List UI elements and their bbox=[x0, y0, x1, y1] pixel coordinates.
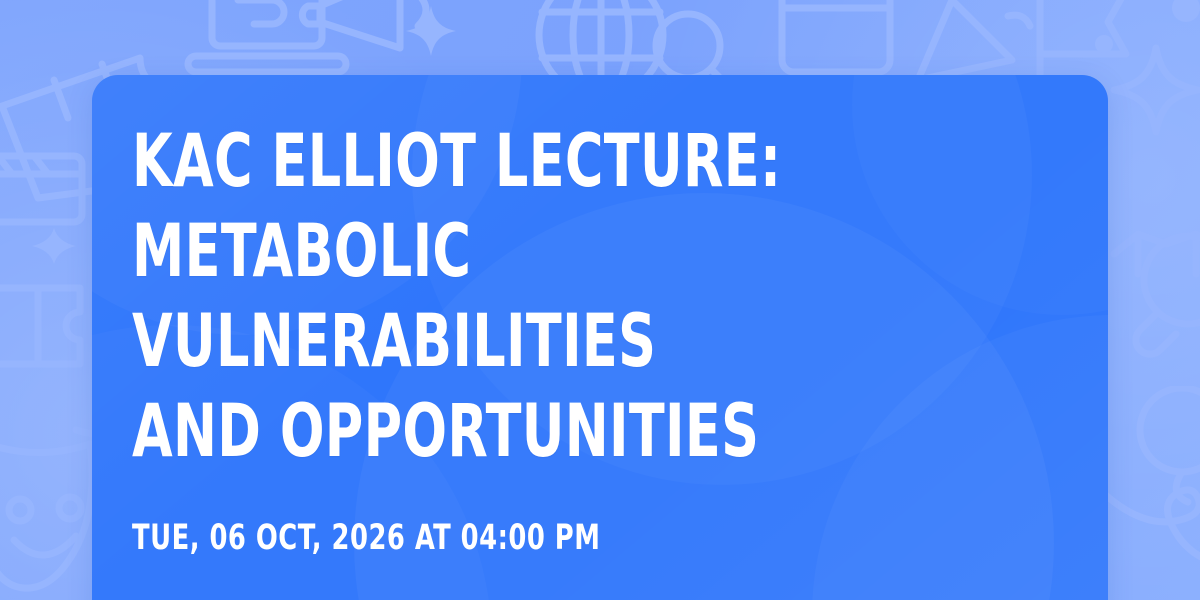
event-card: KAC Elliot Lecture: Metabolic Vulnerabil… bbox=[92, 75, 1108, 600]
event-datetime: Tue, 06 Oct, 2026 at 04:00 PM bbox=[132, 517, 900, 559]
star-icon bbox=[1146, 0, 1200, 54]
event-title: KAC Elliot Lecture: Metabolic Vulnerabil… bbox=[132, 117, 881, 477]
star-icon bbox=[1090, 22, 1134, 66]
event-card-content: KAC Elliot Lecture: Metabolic Vulnerabil… bbox=[132, 117, 1068, 559]
calendar-icon bbox=[766, 0, 906, 84]
sparkle-icon bbox=[404, 4, 458, 58]
microphone-icon bbox=[1126, 226, 1200, 406]
event-banner: KAC Elliot Lecture: Metabolic Vulnerabil… bbox=[0, 0, 1200, 600]
